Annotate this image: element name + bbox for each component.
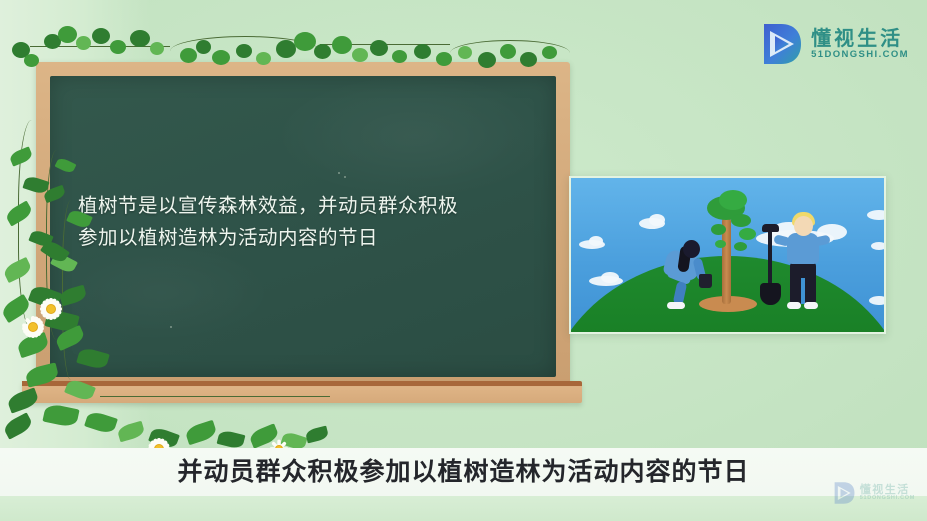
cloud-icon (601, 272, 619, 283)
person-right-shoe-right (804, 302, 818, 309)
tree-leaf (734, 242, 747, 251)
blackboard-text: 植树节是以宣传森林效益，并动员群众积极 参加以植树造林为活动内容的节日 (78, 190, 548, 254)
brand-name-cn: 懂视生活 (811, 28, 909, 48)
person-left-head (683, 240, 700, 258)
person-right-body (787, 233, 819, 264)
cloud-icon (589, 236, 603, 246)
tree-planting-illustration (569, 176, 886, 334)
tree-canopy (719, 190, 747, 210)
cloud-icon (649, 214, 665, 226)
shovel-handle (768, 228, 772, 290)
watering-can-icon (699, 274, 712, 288)
tree-leaf (739, 228, 756, 240)
person-right-leg-gap (801, 278, 805, 304)
cloud-icon (869, 296, 886, 305)
blackboard-line-2: 参加以植树造林为活动内容的节日 (78, 222, 548, 254)
brand-text: 懂视生活 51DONGSHI.COM (811, 28, 909, 60)
brand-name-en: 51DONGSHI.COM (811, 50, 909, 60)
play-d-logo-icon (833, 481, 855, 505)
person-right-head (794, 216, 813, 236)
watermark-text: 懂视生活 51DONGSHI.COM (860, 484, 915, 502)
brand-logo[interactable]: 懂视生活 51DONGSHI.COM (761, 22, 909, 66)
subtitle-text: 并动员群众积极参加以植树造林为活动内容的节日 (0, 452, 927, 492)
tree-leaf (711, 224, 726, 235)
cloud-icon (867, 210, 886, 220)
slide-canvas: 植树节是以宣传森林效益，并动员群众积极 参加以植树造林为活动内容的节日 (0, 0, 927, 521)
tree-leaf (731, 214, 751, 227)
daisy-flower-icon (18, 312, 48, 342)
bottom-strip (0, 496, 927, 521)
watermark-name-cn: 懂视生活 (860, 484, 915, 495)
brand-watermark: 懂视生活 51DONGSHI.COM (833, 481, 915, 505)
blackboard-line-1: 植树节是以宣传森林效益，并动员群众积极 (78, 190, 548, 222)
watermark-name-en: 51DONGSHI.COM (860, 496, 915, 502)
person-left-shoe (667, 302, 685, 309)
tree-leaf (715, 240, 726, 248)
cloud-icon (871, 242, 886, 250)
shovel-blade-icon (760, 283, 781, 305)
play-d-logo-icon (761, 22, 802, 66)
person-right-shoe-left (787, 302, 801, 309)
